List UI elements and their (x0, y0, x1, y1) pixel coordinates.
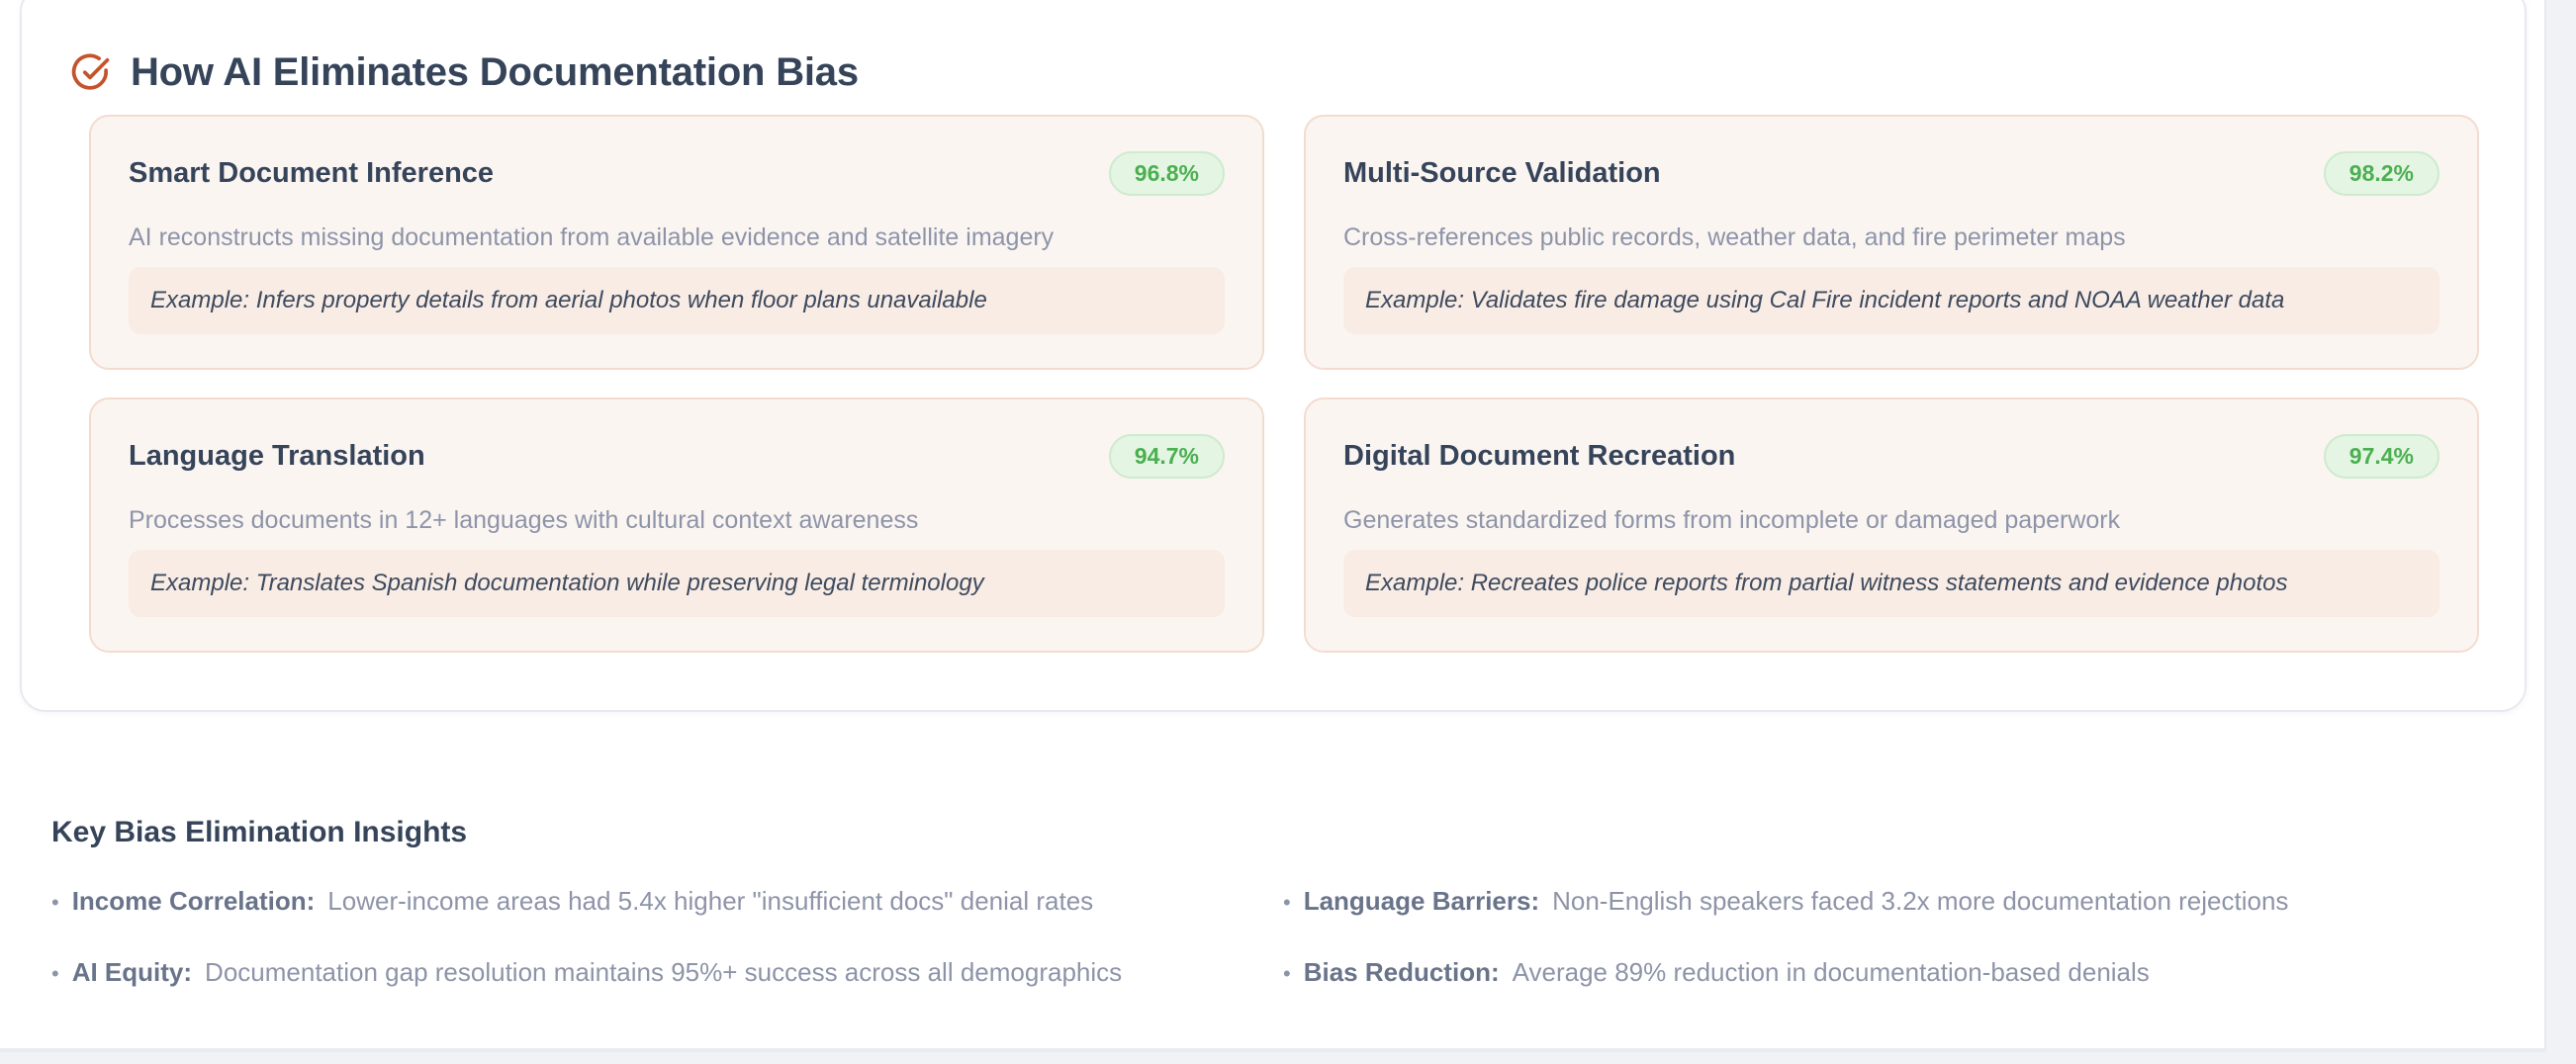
accuracy-badge: 98.2% (2324, 151, 2439, 196)
insight-label: Bias Reduction: (1304, 956, 1500, 989)
check-circle-icon (69, 51, 111, 93)
page-title: How AI Eliminates Documentation Bias (131, 50, 859, 95)
accuracy-badge: 94.7% (1109, 434, 1225, 479)
card-title: Digital Document Recreation (1343, 440, 1735, 473)
key-insights-section: Key Bias Elimination Insights • Income C… (51, 791, 2495, 989)
bias-card[interactable]: Language Translation 94.7% Processes doc… (89, 398, 1264, 653)
insight-item: • Bias Reduction: Average 89% reduction … (1283, 956, 2495, 989)
insights-grid: • Income Correlation: Lower-income areas… (51, 885, 2495, 989)
bullet-icon: • (1283, 963, 1291, 985)
documentation-bias-panel: How AI Eliminates Documentation Bias Sma… (20, 0, 2527, 712)
card-title: Language Translation (129, 440, 425, 473)
card-description: AI reconstructs missing documentation fr… (129, 222, 1225, 254)
bias-card-grid: Smart Document Inference 96.8% AI recons… (89, 115, 2461, 653)
bullet-icon: • (1283, 892, 1291, 914)
card-example-text: Example: Recreates police reports from p… (1365, 570, 2287, 596)
insights-title: Key Bias Elimination Insights (51, 816, 2495, 849)
bullet-icon: • (51, 963, 59, 985)
card-header: Smart Document Inference 96.8% (129, 150, 1225, 196)
card-header: Language Translation 94.7% (129, 433, 1225, 479)
card-example-box: Example: Infers property details from ae… (129, 267, 1225, 334)
accuracy-badge: 96.8% (1109, 151, 1225, 196)
page-background: How AI Eliminates Documentation Bias Sma… (0, 0, 2576, 1064)
card-example-box: Example: Translates Spanish documentatio… (129, 550, 1225, 617)
insight-text: Non-English speakers faced 3.2x more doc… (1552, 885, 2288, 918)
insight-item: • Income Correlation: Lower-income areas… (51, 885, 1283, 918)
card-example-text: Example: Translates Spanish documentatio… (150, 570, 984, 596)
card-description: Cross-references public records, weather… (1343, 222, 2439, 254)
card-example-text: Example: Validates fire damage using Cal… (1365, 287, 2284, 313)
accuracy-badge: 97.4% (2324, 434, 2439, 479)
card-description: Generates standardized forms from incomp… (1343, 504, 2439, 537)
card-example-box: Example: Recreates police reports from p… (1343, 550, 2439, 617)
bullet-icon: • (51, 892, 59, 914)
bias-card[interactable]: Digital Document Recreation 97.4% Genera… (1304, 398, 2479, 653)
bias-card[interactable]: Smart Document Inference 96.8% AI recons… (89, 115, 1264, 370)
insight-item: • AI Equity: Documentation gap resolutio… (51, 956, 1283, 989)
card-example-box: Example: Validates fire damage using Cal… (1343, 267, 2439, 334)
card-example-text: Example: Infers property details from ae… (150, 287, 987, 313)
card-description: Processes documents in 12+ languages wit… (129, 504, 1225, 537)
card-header: Multi-Source Validation 98.2% (1343, 150, 2439, 196)
bias-card[interactable]: Multi-Source Validation 98.2% Cross-refe… (1304, 115, 2479, 370)
card-header: Digital Document Recreation 97.4% (1343, 433, 2439, 479)
insight-item: • Language Barriers: Non-English speaker… (1283, 885, 2495, 918)
card-title: Smart Document Inference (129, 157, 494, 190)
insight-label: Income Correlation: (72, 885, 316, 918)
insight-text: Average 89% reduction in documentation-b… (1513, 956, 2150, 989)
card-title: Multi-Source Validation (1343, 157, 1661, 190)
insight-text: Documentation gap resolution maintains 9… (205, 956, 1122, 989)
insight-label: Language Barriers: (1304, 885, 1539, 918)
insight-label: AI Equity: (72, 956, 192, 989)
insight-text: Lower-income areas had 5.4x higher "insu… (327, 885, 1093, 918)
page-bottom-divider (0, 1048, 2546, 1052)
panel-header: How AI Eliminates Documentation Bias (69, 24, 859, 122)
